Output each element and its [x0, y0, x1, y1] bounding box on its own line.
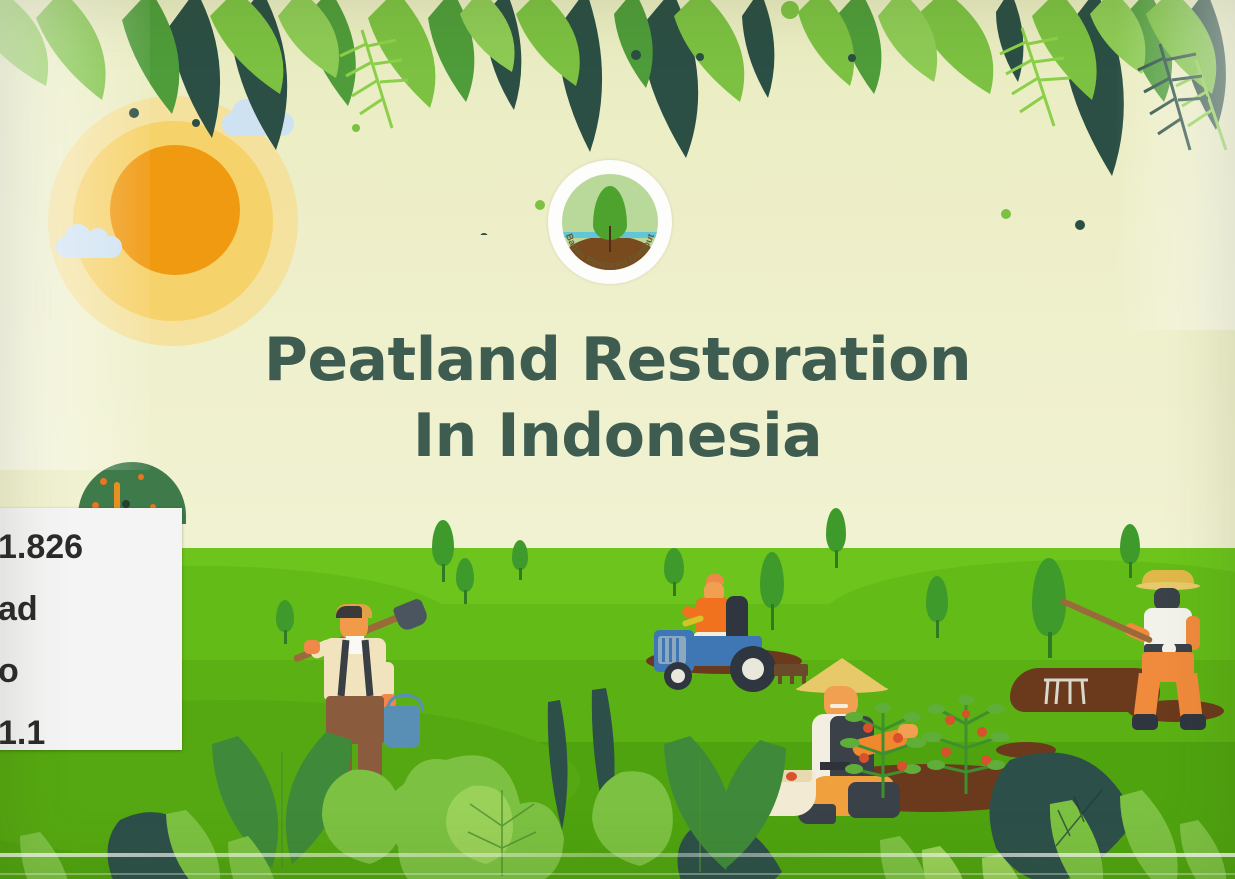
logo-ring-label: Badan Restorasi Gambut — [563, 232, 657, 271]
logo-ring-text: Badan Restorasi Gambut — [548, 160, 672, 284]
title-line-2: In Indonesia — [0, 398, 1235, 474]
title-line-1: Peatland Restoration — [0, 322, 1235, 398]
lib-line-3: o — [0, 640, 182, 702]
lib-line-2: ad — [0, 578, 182, 640]
logo-badge: Badan Restorasi Gambut — [548, 160, 672, 284]
lib-line-1: 1.826 — [0, 516, 182, 578]
cloud-icon — [56, 236, 122, 258]
lib-line-4: 1.1 — [0, 702, 182, 750]
page-title: Peatland Restoration In Indonesia — [0, 322, 1235, 474]
bottom-foliage-border — [0, 640, 1235, 879]
svg-text:Badan Restorasi Gambut: Badan Restorasi Gambut — [563, 232, 657, 271]
library-call-number-label: 1.826 ad o 1.1 — [0, 508, 182, 750]
foliage-bottom-svg — [0, 640, 1235, 879]
book-cover: Badan Restorasi Gambut Peatland Restorat… — [0, 0, 1235, 879]
